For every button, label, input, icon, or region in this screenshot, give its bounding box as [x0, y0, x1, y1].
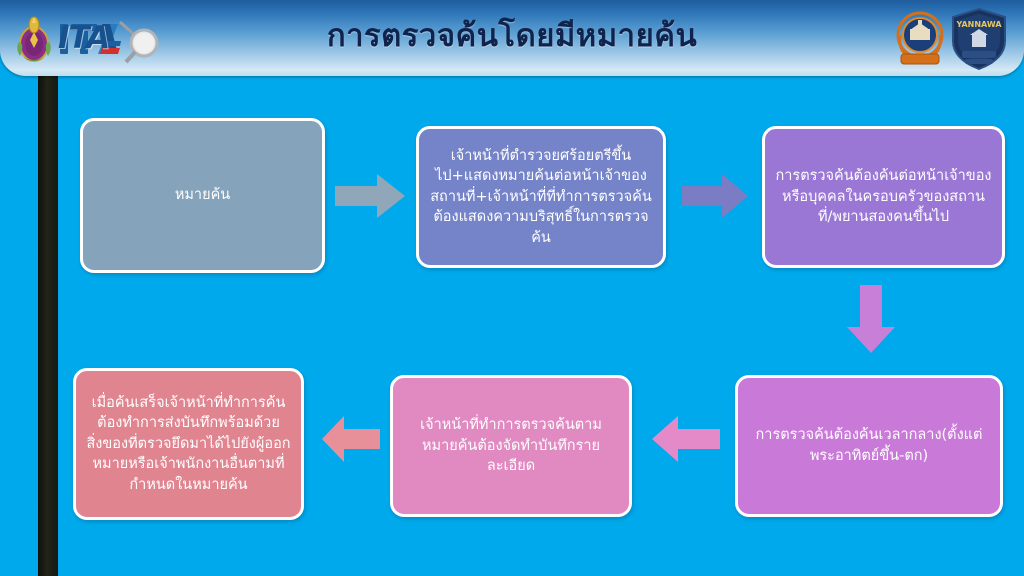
flow-step-6[interactable]: เมื่อค้นเสร็จเจ้าหน้าที่ทำการค้นต้องทำกา… — [73, 368, 304, 520]
slide-canvas: ITA การตรวจค้นโดยมีหมายค้น YANNAWA — [0, 0, 1024, 576]
left-accent-stripe — [38, 72, 58, 576]
flow-step-3[interactable]: การตรวจค้นต้องค้นต่อหน้าเจ้าของหรือบุคคล… — [762, 126, 1005, 268]
arrow-down-step3-to-step4-icon — [845, 283, 897, 355]
flow-step-4[interactable]: การตรวจค้นต้องค้นเวลากลาง(ตั้งแต่พระอาทิ… — [735, 375, 1003, 517]
arrow-right-step1-to-step2-icon — [333, 172, 407, 220]
svg-text:YANNAWA: YANNAWA — [955, 20, 1002, 29]
flow-step-6-label: เมื่อค้นเสร็จเจ้าหน้าที่ทำการค้นต้องทำกา… — [86, 393, 291, 496]
agency-seal-icon — [892, 9, 948, 67]
flow-step-1[interactable]: หมายค้น — [80, 118, 325, 273]
arrow-left-step4-to-step5-icon — [650, 414, 722, 464]
flow-step-1-label: หมายค้น — [93, 185, 312, 206]
flow-step-2[interactable]: เจ้าหน้าที่ตำรวจยศร้อยตรีขึ้นไป+แสดงหมาย… — [416, 126, 666, 268]
flow-step-5-label: เจ้าหน้าที่ทำการตรวจค้นตามหมายค้นต้องจัด… — [403, 415, 619, 477]
slide-header-bar: ITA การตรวจค้นโดยมีหมายค้น YANNAWA — [0, 0, 1024, 76]
arrow-right-step2-to-step3-icon — [680, 172, 750, 220]
flow-step-4-label: การตรวจค้นต้องค้นเวลากลาง(ตั้งแต่พระอาทิ… — [748, 425, 990, 466]
page-title: การตรวจค้นโดยมีหมายค้น — [0, 0, 1024, 76]
flow-step-3-label: การตรวจค้นต้องค้นต่อหน้าเจ้าของหรือบุคคล… — [775, 166, 992, 228]
logo-cluster-right: YANNAWA — [892, 7, 1010, 71]
arrow-left-step5-to-step6-icon — [320, 414, 382, 464]
flow-step-2-label: เจ้าหน้าที่ตำรวจยศร้อยตรีขึ้นไป+แสดงหมาย… — [429, 146, 653, 249]
yannawa-shield-icon: YANNAWA — [950, 7, 1008, 71]
flow-step-5[interactable]: เจ้าหน้าที่ทำการตรวจค้นตามหมายค้นต้องจัด… — [390, 375, 632, 517]
